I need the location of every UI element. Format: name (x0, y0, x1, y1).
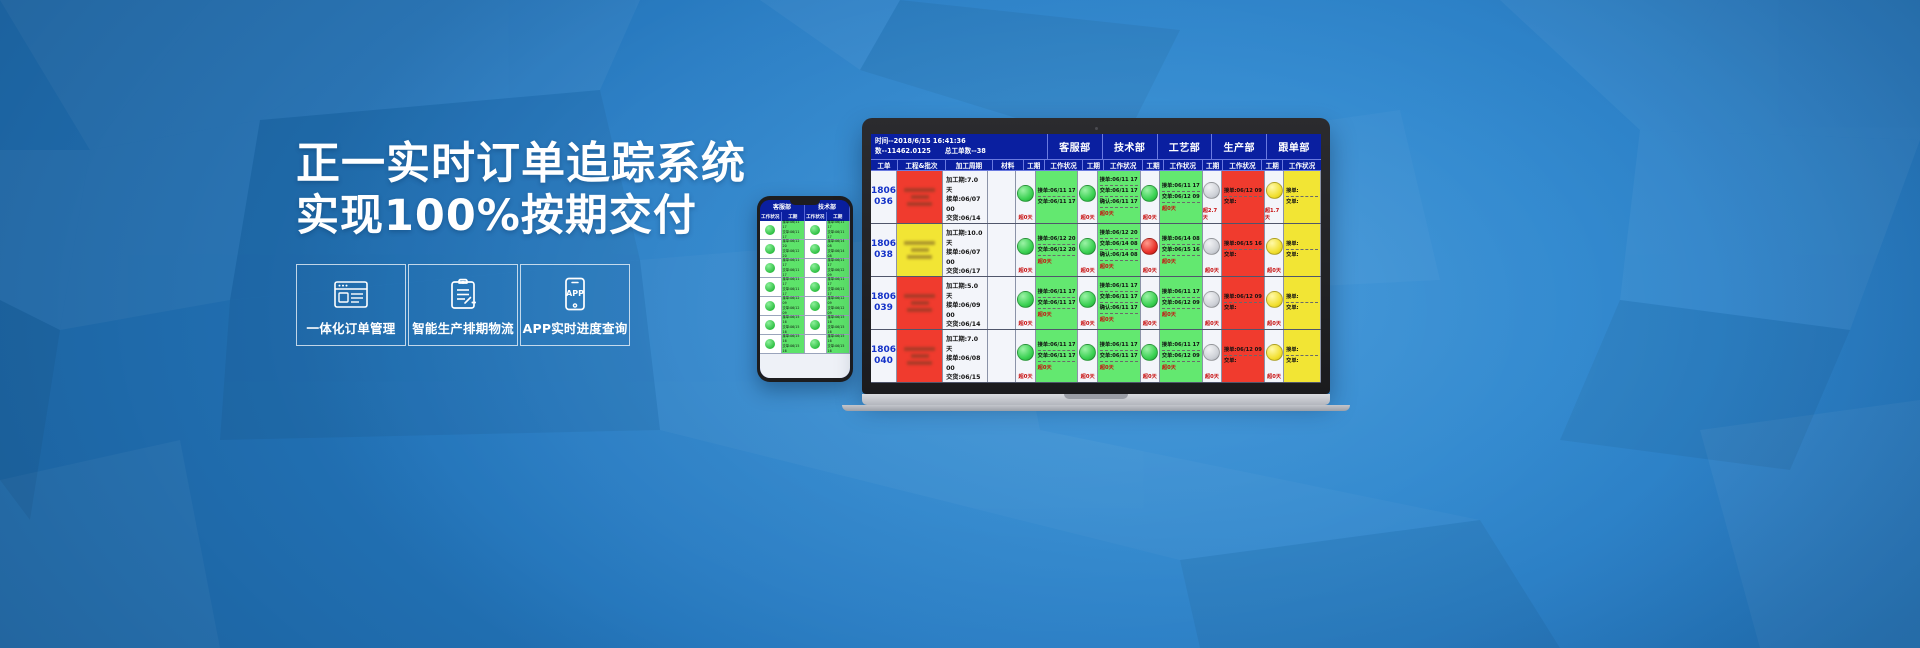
phone-duration-cell: 接单:06/11 17交单:06/11 17 (827, 221, 850, 239)
col-header-1: 工程&批次 (897, 160, 945, 170)
mobile-app-icon: APP (563, 277, 587, 311)
order-no-bottom: 040 (874, 356, 893, 367)
feature-label: 智能生产排期物流 (412, 318, 514, 337)
dept-duration-cell-3: 超0天 (1203, 330, 1222, 382)
status-line: 确认:06/14 08 (1100, 252, 1138, 261)
dept-duration-cell-4: 超1.7天 (1265, 171, 1284, 223)
dept-status-cell-2: 接单:06/11 17交单:06/12 09超0天 (1160, 330, 1203, 382)
phone-date-text: 接单:06/15 16 (782, 334, 803, 344)
phone-status-cell (760, 335, 782, 353)
dept-duration-cell-4: 超0天 (1265, 224, 1284, 276)
late-days-label: 超0天 (1267, 320, 1281, 327)
phone-duration-cell: 接单:06/11 17交单:06/11 17 (827, 278, 850, 296)
col-header-生产部-工期: 工期 (1202, 160, 1223, 170)
dept-status-cell-1: 接单:06/11 17交单:06/11 17超0天 (1098, 330, 1141, 382)
dept-duration-cell-2: 超0天 (1141, 171, 1160, 223)
phone-date-text: 接单:06/11 17 (827, 258, 848, 268)
phone-status-cell (805, 297, 827, 315)
status-lines: 接单:06/12 09交单: (1224, 331, 1262, 381)
col-header-0: 工单 (871, 160, 897, 170)
phone-duration-cell: 接单:06/12 09交单:06/12 09 (782, 297, 805, 315)
status-line: 接单: (1286, 347, 1318, 356)
status-dot-green (810, 320, 820, 330)
status-line: 接单:06/12 09 (1224, 188, 1262, 197)
phone-table-row[interactable]: 接单:06/15 16交单:06/15 16接单:06/15 16交单:06/1… (760, 335, 850, 354)
status-lines: 接单:06/11 17交单:06/11 17超0天 (1038, 331, 1076, 381)
meta-row-2: 数--11462.0125 总工单数--38 (875, 146, 1045, 156)
project-batch-cell (897, 171, 943, 223)
status-line: 交单:06/12 09 (1162, 353, 1200, 362)
status-dot-red (1141, 238, 1158, 255)
dept-status-cell-4: 接单:交单: (1284, 277, 1321, 329)
phone-status-cell (805, 221, 827, 239)
status-line: 接单:06/12 20 (1100, 230, 1138, 239)
status-line: 确认:06/11 17 (1100, 305, 1138, 314)
dept-status-cell-3: 接单:06/12 09交单: (1222, 277, 1265, 329)
phone-table-row[interactable]: 接单:06/15 16交单:06/15 16接单:06/15 16交单:06/1… (760, 316, 850, 335)
phone-duration-cell: 接单:06/14 08交单:06/14 08 (827, 240, 850, 258)
dashboard-table-body[interactable]: 1806036加工期:7.0天接单:06/07 00交货:06/14 00超0天… (871, 171, 1321, 383)
processing-cycle-cell: 加工期:7.0天接单:06/07 00交货:06/14 00 (943, 171, 987, 223)
order-no-bottom: 038 (874, 250, 893, 261)
late-days-label: 超0天 (1019, 320, 1033, 327)
phone-status-cell (805, 335, 827, 353)
phone-table-row[interactable]: 接单:06/11 17交单:06/11 17接单:06/11 17交单:06/1… (760, 259, 850, 278)
dept-status-cell-4: 接单:交单: (1284, 330, 1321, 382)
phone-status-cell (760, 316, 782, 334)
status-line: 接单:06/12 09 (1224, 294, 1262, 303)
phone-duration-cell: 接单:06/11 17交单:06/12 09 (827, 259, 850, 277)
dept-duration-cell-3: 超2.7天 (1203, 171, 1222, 223)
dashboard-header: 时间--2018/6/15 16:41:36 数--11462.0125 总工单… (871, 134, 1321, 160)
col-header-跟单部-工期: 工期 (1261, 160, 1282, 170)
table-row[interactable]: 1806039加工期:5.0天接单:06/09 00交货:06/14 00超0天… (871, 277, 1321, 330)
dept-duration-cell-0: 超0天 (1016, 224, 1035, 276)
dept-status-cell-3: 接单:06/12 09交单: (1222, 171, 1265, 223)
status-dot-gray (1203, 182, 1220, 199)
laptop-hinge (862, 394, 1330, 405)
phone-status-cell (760, 297, 782, 315)
status-lines: 接单:交单: (1286, 172, 1318, 222)
status-lines: 接单:06/11 17交单:06/11 17确认:06/11 17超0天 (1100, 278, 1138, 328)
late-days-label: 超0天 (1162, 205, 1200, 212)
phone-status-cell (805, 259, 827, 277)
status-line: 交单:06/12 09 (1162, 194, 1200, 203)
phone-duration-cell: 接单:06/15 16交单:06/15 16 (827, 335, 850, 353)
status-line: 接单:06/11 17 (1038, 188, 1076, 197)
late-days-label: 超0天 (1162, 364, 1200, 371)
cycle-line: 加工期:7.0天 (946, 176, 983, 195)
phone-date-text: 接单:06/15 16 (827, 334, 848, 344)
phone-date-text: 接单:06/12 20 (782, 239, 803, 249)
phone-date-text: 接单:06/11 17 (782, 277, 803, 287)
status-lines: 接单:06/11 17交单:06/12 09超0天 (1162, 172, 1200, 222)
status-dot-green (1017, 185, 1034, 202)
phone-date-text: 接单:06/15 16 (782, 315, 803, 325)
clipboard-icon (449, 277, 477, 311)
status-line: 交单:06/11 17 (1100, 188, 1138, 197)
dept-duration-cell-1: 超0天 (1078, 330, 1097, 382)
late-days-label: 超2.7天 (1203, 207, 1221, 221)
phone-mockup: 客服部 技术部 工作状况 工期 工作状况 工期 接单:06/11 17交单:06… (757, 196, 853, 382)
dept-duration-cell-3: 超0天 (1203, 277, 1222, 329)
status-line: 交单:06/11 17 (1038, 199, 1076, 207)
phone-duration-cell: 接单:06/12 09交单:06/12 09 (827, 297, 850, 315)
phone-date-text: 接单:06/12 09 (827, 296, 848, 306)
laptop-mockup: 时间--2018/6/15 16:41:36 数--11462.0125 总工单… (862, 118, 1330, 411)
late-days-label: 超0天 (1100, 316, 1138, 323)
status-dot-green (1017, 344, 1034, 361)
dept-status-cell-3: 接单:06/15 16交单: (1222, 224, 1265, 276)
dept-header-technical: 技术部 (1102, 134, 1157, 159)
late-days-label: 超0天 (1038, 258, 1076, 265)
laptop-lid: 时间--2018/6/15 16:41:36 数--11462.0125 总工单… (862, 118, 1330, 394)
phone-duration-cell: 接单:06/11 17交单:06/11 17 (782, 278, 805, 296)
late-days-label: 超0天 (1019, 267, 1033, 274)
status-line: 交单: (1224, 305, 1262, 313)
status-lines: 接单:06/11 17交单:06/11 17超0天 (1100, 331, 1138, 381)
status-dot-green (810, 301, 820, 311)
status-line: 接单:06/11 17 (1100, 342, 1138, 351)
phone-duration-cell: 接单:06/11 17交单:06/11 17 (782, 259, 805, 277)
feature-card-order-management[interactable]: 一体化订单管理 (296, 264, 406, 346)
cycle-line: 接单:06/08 00 (946, 354, 983, 373)
late-days-label: 超0天 (1205, 320, 1219, 327)
status-dot-green (810, 339, 820, 349)
col-header-工艺部-工作状况: 工作状况 (1163, 160, 1202, 170)
redacted-project-text (900, 238, 939, 262)
status-line: 接单:06/11 17 (1038, 342, 1076, 351)
status-line: 交单: (1286, 252, 1318, 260)
dept-status-cell-0: 接单:06/11 17交单:06/11 17超0天 (1036, 277, 1079, 329)
meta-time: 时间--2018/6/15 16:41:36 (875, 136, 1045, 146)
cycle-line: 接单:06/07 00 (946, 248, 983, 267)
dept-status-cell-3: 接单:06/12 09交单: (1222, 330, 1265, 382)
status-dot-green (765, 339, 775, 349)
cycle-line: 交货:06/15 00 (946, 373, 983, 383)
col-header-2: 加工周期 (945, 160, 992, 170)
status-line: 交单:06/12 20 (1038, 247, 1076, 256)
phone-date-text: 接单:06/11 17 (827, 220, 848, 230)
status-line: 交单: (1224, 199, 1262, 207)
status-line: 交单:06/11 17 (1038, 300, 1076, 309)
status-dot-green (1017, 238, 1034, 255)
status-line: 交单:06/11 17 (1100, 294, 1138, 303)
status-line: 交单: (1286, 358, 1318, 366)
table-row[interactable]: 1806036加工期:7.0天接单:06/07 00交货:06/14 00超0天… (871, 171, 1321, 224)
material-cell (988, 224, 1017, 276)
order-number-cell[interactable]: 1806040 (871, 330, 897, 382)
order-no-bottom: 036 (874, 197, 893, 208)
late-days-label: 超0天 (1081, 267, 1095, 274)
status-line: 接单:06/11 17 (1162, 342, 1200, 351)
status-line: 接单: (1286, 241, 1318, 250)
status-dot-green (810, 225, 820, 235)
phone-date-text: 交单:06/15 16 (782, 344, 803, 354)
status-dot-green (765, 282, 775, 292)
col-header-工艺部-工期: 工期 (1142, 160, 1163, 170)
phone-table-row[interactable]: 接单:06/11 17交单:06/11 17接单:06/11 17交单:06/1… (760, 278, 850, 297)
phone-duration-cell: 接单:06/12 20交单:06/12 20 (782, 240, 805, 258)
phone-table-body[interactable]: 接单:06/11 17交单:06/11 17接单:06/11 17交单:06/1… (760, 221, 850, 378)
status-line: 交单: (1224, 252, 1262, 260)
status-dot-green (1079, 185, 1096, 202)
late-days-label: 超0天 (1100, 210, 1138, 217)
status-line: 接单:06/14 08 (1162, 236, 1200, 245)
processing-cycle-cell: 加工期:5.0天接单:06/09 00交货:06/14 00 (943, 277, 987, 329)
dept-status-cell-0: 接单:06/11 17交单:06/11 17超0天 (1036, 330, 1079, 382)
status-line: 接单:06/11 17 (1100, 177, 1138, 186)
late-days-label: 超0天 (1143, 214, 1157, 221)
late-days-label: 超0天 (1081, 320, 1095, 327)
status-lines: 接单:06/11 17交单:06/11 17 (1038, 172, 1076, 222)
dept-duration-cell-4: 超0天 (1265, 330, 1284, 382)
status-lines: 接单:交单: (1286, 225, 1318, 275)
phone-col-status-1: 工作状况 (805, 212, 827, 221)
browser-window-icon (334, 277, 368, 311)
status-dot-yellow (1266, 291, 1283, 308)
processing-cycle-cell: 加工期:7.0天接单:06/08 00交货:06/15 00 (943, 330, 987, 382)
status-lines: 接单:06/12 20交单:06/14 08确认:06/14 08超0天 (1100, 225, 1138, 275)
cycle-line: 接单:06/07 00 (946, 195, 983, 214)
phone-date-text: 接单:06/14 08 (827, 239, 848, 249)
status-lines: 接单:06/12 09交单: (1224, 278, 1262, 328)
status-line: 交单:06/12 09 (1162, 300, 1200, 309)
status-lines: 接单:06/11 17交单:06/11 17超0天 (1038, 278, 1076, 328)
dept-duration-cell-1: 超0天 (1078, 277, 1097, 329)
late-days-label: 超0天 (1038, 364, 1076, 371)
phone-date-text: 接单:06/12 09 (782, 296, 803, 306)
late-days-label: 超0天 (1267, 373, 1281, 380)
order-no-top: 1806 (871, 186, 896, 197)
dept-header-production: 生产部 (1211, 134, 1266, 159)
phone-date-text: 接单:06/11 17 (782, 220, 803, 230)
phone-duration-cell: 接单:06/15 16交单:06/15 16 (782, 335, 805, 353)
col-header-跟单部-工作状况: 工作状况 (1282, 160, 1321, 170)
material-cell (988, 171, 1017, 223)
project-batch-cell (897, 277, 943, 329)
col-header-技术部-工期: 工期 (1082, 160, 1103, 170)
status-dot-green (810, 244, 820, 254)
feature-label: 一体化订单管理 (307, 318, 396, 337)
dept-status-cell-1: 接单:06/12 20交单:06/14 08确认:06/14 08超0天 (1098, 224, 1141, 276)
redacted-project-text (900, 185, 939, 209)
dept-status-cell-2: 接单:06/14 08交单:06/15 16超0天 (1160, 224, 1203, 276)
status-dot-green (765, 320, 775, 330)
status-line: 接单:06/12 09 (1224, 347, 1262, 356)
order-no-top: 1806 (871, 239, 896, 250)
col-header-客服部-工期: 工期 (1023, 160, 1044, 170)
status-line: 交单:06/14 08 (1100, 241, 1138, 250)
redacted-project-text (900, 344, 939, 368)
cycle-line: 加工期:5.0天 (946, 282, 983, 301)
phone-table-row[interactable]: 接单:06/12 20交单:06/12 20接单:06/14 08交单:06/1… (760, 240, 850, 259)
status-dot-green (765, 301, 775, 311)
status-line: 交单: (1286, 199, 1318, 207)
late-days-label: 超0天 (1162, 311, 1200, 318)
status-line: 接单:06/11 17 (1100, 283, 1138, 292)
cycle-line: 加工期:10.0天 (946, 229, 983, 248)
dept-header-customer-service: 客服部 (1047, 134, 1102, 159)
col-header-3: 材料 (992, 160, 1023, 170)
status-dot-green (1141, 291, 1158, 308)
col-header-客服部-工作状况: 工作状况 (1044, 160, 1083, 170)
phone-status-cell (760, 278, 782, 296)
order-tracking-dashboard: 时间--2018/6/15 16:41:36 数--11462.0125 总工单… (871, 134, 1321, 383)
dept-duration-cell-4: 超0天 (1265, 277, 1284, 329)
processing-cycle-cell: 加工期:10.0天接单:06/07 00交货:06/17 00 (943, 224, 987, 276)
project-batch-cell (897, 330, 943, 382)
status-line: 交单:06/11 17 (1100, 353, 1138, 362)
dept-duration-cell-0: 超0天 (1016, 330, 1035, 382)
status-dot-gray (1203, 344, 1220, 361)
laptop-screen: 时间--2018/6/15 16:41:36 数--11462.0125 总工单… (871, 134, 1321, 383)
status-line: 交单: (1286, 305, 1318, 313)
feature-label: APP实时进度查询 (523, 318, 628, 337)
late-days-label: 超0天 (1019, 373, 1033, 380)
status-dot-gray (1203, 238, 1220, 255)
status-line: 接单: (1286, 294, 1318, 303)
laptop-base (842, 405, 1350, 411)
status-dot-green (810, 263, 820, 273)
project-batch-cell (897, 224, 943, 276)
dept-status-cell-1: 接单:06/11 17交单:06/11 17确认:06/11 17超0天 (1098, 171, 1141, 223)
late-days-label: 超0天 (1205, 267, 1219, 274)
order-no-top: 1806 (871, 345, 896, 356)
late-days-label: 超0天 (1100, 263, 1138, 270)
phone-table-row[interactable]: 接单:06/11 17交单:06/11 17接单:06/11 17交单:06/1… (760, 221, 850, 240)
late-days-label: 超0天 (1267, 267, 1281, 274)
late-days-label: 超0天 (1143, 373, 1157, 380)
dept-status-cell-2: 接单:06/11 17交单:06/12 09超0天 (1160, 171, 1203, 223)
status-lines: 接单:06/14 08交单:06/15 16超0天 (1162, 225, 1200, 275)
late-days-label: 超0天 (1100, 364, 1138, 371)
status-lines: 接单:06/12 20交单:06/12 20超0天 (1038, 225, 1076, 275)
order-number-cell[interactable]: 1806039 (871, 277, 897, 329)
status-dot-green (765, 244, 775, 254)
status-dot-green (1079, 291, 1096, 308)
status-line: 接单:06/12 20 (1038, 236, 1076, 245)
status-line: 交单:06/15 16 (1162, 247, 1200, 256)
dept-duration-cell-2: 超0天 (1141, 277, 1160, 329)
phone-screen: 客服部 技术部 工作状况 工期 工作状况 工期 接单:06/11 17交单:06… (760, 200, 850, 378)
dept-duration-cell-0: 超0天 (1016, 171, 1035, 223)
status-dot-green (1079, 238, 1096, 255)
hero-copy: 正一实时订单追踪系统 实现100%按期交付 一体化订单管理 (296, 138, 726, 346)
status-line: 接单:06/11 17 (1162, 183, 1200, 192)
order-number-cell[interactable]: 1806036 (871, 171, 897, 223)
status-dot-green (1079, 344, 1096, 361)
status-dot-green (765, 263, 775, 273)
status-line: 接单:06/11 17 (1038, 289, 1076, 298)
status-line: 接单: (1286, 188, 1318, 197)
phone-table-row[interactable]: 接单:06/12 09交单:06/12 09接单:06/12 09交单:06/1… (760, 297, 850, 316)
order-no-top: 1806 (871, 292, 896, 303)
late-days-label: 超0天 (1081, 214, 1095, 221)
dept-status-cell-4: 接单:交单: (1284, 224, 1321, 276)
status-dot-gray (1203, 291, 1220, 308)
order-number-cell[interactable]: 1806038 (871, 224, 897, 276)
cycle-line: 加工期:7.0天 (946, 335, 983, 354)
phone-status-cell (760, 259, 782, 277)
status-dot-green (810, 282, 820, 292)
late-days-label: 超0天 (1038, 311, 1076, 318)
status-dot-green (1017, 291, 1034, 308)
phone-status-cell (760, 221, 782, 239)
table-row[interactable]: 1806038加工期:10.0天接单:06/07 00交货:06/17 00超0… (871, 224, 1321, 277)
dept-duration-cell-2: 超0天 (1141, 224, 1160, 276)
status-dot-green (765, 225, 775, 235)
headline-line-1: 正一实时订单追踪系统 (296, 138, 726, 190)
status-line: 接单:06/11 17 (1162, 289, 1200, 298)
phone-status-cell (760, 240, 782, 258)
status-dot-yellow (1266, 344, 1283, 361)
phone-date-text: 接单:06/11 17 (827, 277, 848, 287)
dept-duration-cell-0: 超0天 (1016, 277, 1035, 329)
status-lines: 接单:交单: (1286, 331, 1318, 381)
phone-notch (790, 200, 820, 205)
dept-duration-cell-1: 超0天 (1078, 224, 1097, 276)
phone-date-text: 接单:06/11 17 (782, 258, 803, 268)
status-lines: 接单:06/11 17交单:06/12 09超0天 (1162, 278, 1200, 328)
status-lines: 接单:06/15 16交单: (1224, 225, 1262, 275)
status-line: 交单:06/11 17 (1038, 353, 1076, 362)
phone-duration-cell: 接单:06/15 16交单:06/15 16 (827, 316, 850, 334)
redacted-project-text (900, 291, 939, 315)
status-dot-green (1141, 185, 1158, 202)
dept-status-cell-0: 接单:06/11 17交单:06/11 17 (1036, 171, 1079, 223)
feature-card-production-schedule[interactable]: 智能生产排期物流 (408, 264, 518, 346)
table-row[interactable]: 1806040加工期:7.0天接单:06/08 00交货:06/15 00超0天… (871, 330, 1321, 383)
dashboard-meta: 时间--2018/6/15 16:41:36 数--11462.0125 总工单… (871, 134, 1047, 159)
feature-card-app-progress[interactable]: APP APP实时进度查询 (520, 264, 630, 346)
dept-duration-cell-2: 超0天 (1141, 330, 1160, 382)
col-header-技术部-工作状况: 工作状况 (1103, 160, 1142, 170)
phone-status-cell (805, 316, 827, 334)
status-line: 接单:06/15 16 (1224, 241, 1262, 250)
col-header-生产部-工作状况: 工作状况 (1222, 160, 1261, 170)
dept-duration-cell-1: 超0天 (1078, 171, 1097, 223)
svg-text:APP: APP (566, 289, 584, 298)
late-days-label: 超0天 (1081, 373, 1095, 380)
status-line: 确认:06/11 17 (1100, 199, 1138, 208)
status-lines: 接单:交单: (1286, 278, 1318, 328)
status-dot-green (1141, 344, 1158, 361)
phone-col-status-0: 工作状况 (760, 212, 782, 221)
status-dot-yellow (1266, 238, 1283, 255)
status-line: 交单: (1224, 358, 1262, 366)
dept-status-cell-4: 接单:交单: (1284, 171, 1321, 223)
late-days-label: 超1.7天 (1265, 207, 1283, 221)
meta-count: 数--11462.0125 (875, 146, 931, 156)
late-days-label: 超0天 (1205, 373, 1219, 380)
phone-status-cell (805, 278, 827, 296)
material-cell (988, 277, 1017, 329)
dept-header-merchandising: 跟单部 (1266, 134, 1321, 159)
headline-line-2: 实现100%按期交付 (296, 190, 726, 242)
order-no-bottom: 039 (874, 303, 893, 314)
status-dot-yellow (1266, 182, 1283, 199)
phone-status-cell (805, 240, 827, 258)
phone-duration-cell: 接单:06/15 16交单:06/15 16 (782, 316, 805, 334)
late-days-label: 超0天 (1162, 258, 1200, 265)
dashboard-column-headers: 工单工程&批次加工周期材料工期工作状况工期工作状况工期工作状况工期工作状况工期工… (871, 160, 1321, 171)
material-cell (988, 330, 1017, 382)
dept-status-cell-0: 接单:06/12 20交单:06/12 20超0天 (1036, 224, 1079, 276)
webcam-icon (1095, 127, 1098, 130)
dept-status-cell-1: 接单:06/11 17交单:06/11 17确认:06/11 17超0天 (1098, 277, 1141, 329)
phone-duration-cell: 接单:06/11 17交单:06/11 17 (782, 221, 805, 239)
